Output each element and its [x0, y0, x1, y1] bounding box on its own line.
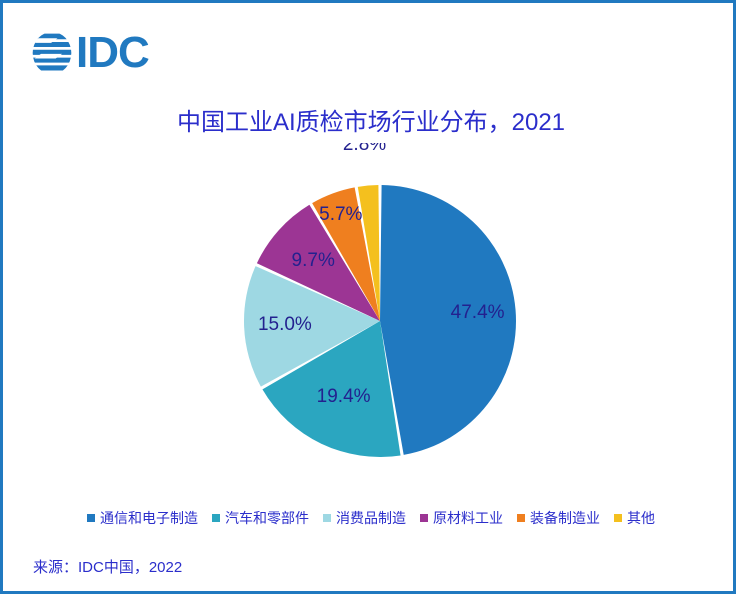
pie-chart: 47.4%19.4%15.0%9.7%5.7%2.8% [3, 143, 736, 493]
legend-label: 其他 [627, 511, 655, 525]
idc-globe-icon [29, 30, 75, 76]
legend-swatch-icon [87, 514, 95, 522]
legend-label: 汽车和零部件 [225, 511, 309, 525]
legend-label: 消费品制造 [336, 511, 406, 525]
legend-label: 通信和电子制造 [100, 511, 198, 525]
legend-item[interactable]: 汽车和零部件 [212, 511, 309, 525]
pie-slice-value-label: 2.8% [343, 143, 386, 155]
idc-wordmark: IDC [76, 31, 149, 75]
legend-swatch-icon [323, 514, 331, 522]
legend-item[interactable]: 消费品制造 [323, 511, 406, 525]
legend-swatch-icon [212, 514, 220, 522]
legend-label: 原材料工业 [433, 511, 503, 525]
legend-item[interactable]: 原材料工业 [420, 511, 503, 525]
chart-legend: 通信和电子制造汽车和零部件消费品制造原材料工业装备制造业其他 [3, 511, 736, 525]
legend-swatch-icon [420, 514, 428, 522]
legend-label: 装备制造业 [530, 511, 600, 525]
legend-item[interactable]: 通信和电子制造 [87, 511, 198, 525]
source-note: 来源：IDC中国，2022 [33, 556, 182, 577]
pie-slice-value-label: 15.0% [258, 314, 312, 335]
pie-slice-value-label: 5.7% [319, 204, 362, 225]
chart-title: 中国工业AI质检市场行业分布，2021 [3, 102, 736, 137]
legend-swatch-icon [614, 514, 622, 522]
legend-item[interactable]: 其他 [614, 511, 655, 525]
idc-logo: IDC [29, 27, 229, 79]
legend-item[interactable]: 装备制造业 [517, 511, 600, 525]
pie-chart-svg: 47.4%19.4%15.0%9.7%5.7%2.8% [3, 143, 736, 493]
legend-swatch-icon [517, 514, 525, 522]
pie-slice-value-label: 47.4% [451, 302, 505, 323]
pie-slice-value-label: 19.4% [317, 386, 371, 407]
chart-page: IDC 中国工业AI质检市场行业分布，2021 47.4%19.4%15.0%9… [0, 0, 736, 594]
pie-slice-value-label: 9.7% [292, 250, 335, 271]
